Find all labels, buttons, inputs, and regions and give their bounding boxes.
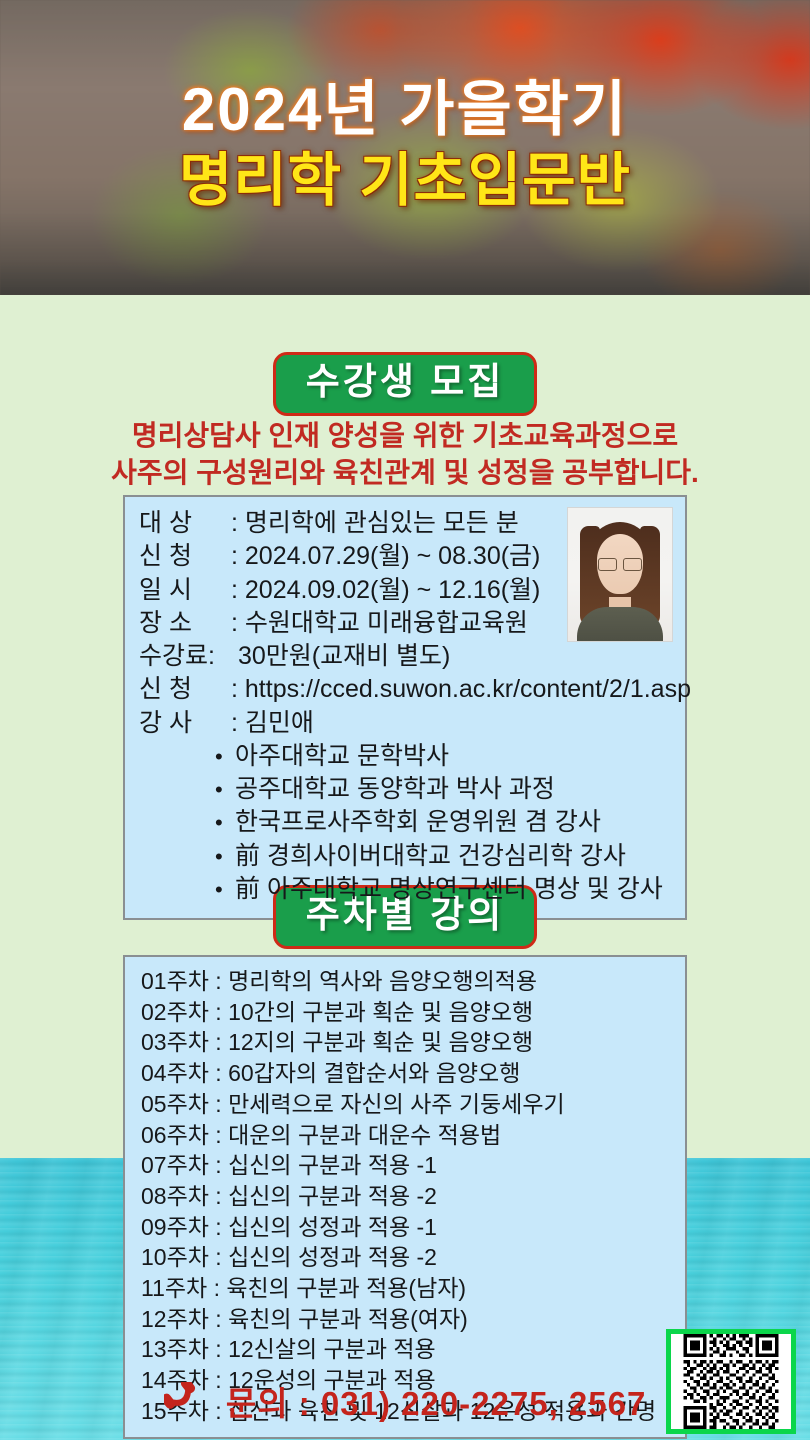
credential-item: 前 경희사이버대학교 건강심리학 강사 [215, 840, 673, 873]
info-row: 일 시: 2024.09.02(월) ~ 12.16(월) [139, 574, 673, 607]
info-row: 신 청: 2024.07.29(월) ~ 08.30(금) [139, 540, 673, 573]
info-value: 김민애 [245, 709, 314, 737]
contact-text: 문의 : 031) 220-2275, 2567 [226, 1385, 646, 1422]
info-value: 명리학에 관심있는 모든 분 [245, 509, 519, 537]
info-row-apply-url[interactable]: 신 청: https://cced.suwon.ac.kr/content/2/… [139, 673, 673, 706]
weekly-item: 05주차 : 만세력으로 자신의 사주 기둥세우기 [141, 1089, 675, 1120]
title-line-1: 2024년 가을학기 [0, 78, 810, 141]
banner-title-group: 2024년 가을학기 명리학 기초입문반 [0, 78, 810, 212]
credential-item: 아주대학교 문학박사 [215, 740, 673, 773]
credential-item: 한국프로사주학회 운영위원 겸 강사 [215, 806, 673, 839]
info-value: 2024.09.02(월) ~ 12.16(월) [245, 576, 540, 604]
weekly-item: 03주차 : 12지의 구분과 획순 및 음양오행 [141, 1027, 675, 1058]
info-label: 대 상 [139, 507, 231, 540]
weekly-item: 01주차 : 명리학의 역사와 음양오행의적용 [141, 966, 675, 997]
info-row: 대 상: 명리학에 관심있는 모든 분 [139, 507, 673, 540]
info-value: 수원대학교 미래융합교육원 [245, 609, 528, 637]
info-label: 강 사 [139, 707, 231, 740]
weekly-item: 04주차 : 60갑자의 결합순서와 음양오행 [141, 1058, 675, 1089]
info-value: 30만원(교재비 별도) [238, 642, 450, 670]
info-label: 신 청 [139, 673, 231, 706]
info-row: 강 사: 김민애 [139, 707, 673, 740]
weekly-item: 02주차 : 10간의 구분과 획순 및 음양오행 [141, 997, 675, 1028]
course-info-box: 대 상: 명리학에 관심있는 모든 분 신 청: 2024.07.29(월) ~… [123, 495, 687, 920]
banner-header: 2024년 가을학기 명리학 기초입문반 [0, 0, 810, 295]
weekly-item: 13주차 : 12신살의 구분과 적용 [141, 1334, 675, 1365]
recruit-heading-badge: 수강생 모집 [273, 352, 537, 416]
phone-receiver-svg [164, 1382, 204, 1420]
recruit-subtitle: 명리상담사 인재 양성을 위한 기초교육과정으로 사주의 구성원리와 육친관계 … [0, 418, 810, 492]
weekly-schedule-box: 01주차 : 명리학의 역사와 음양오행의적용 02주차 : 10간의 구분과 … [123, 955, 687, 1439]
info-label: 수강료: [139, 640, 231, 673]
phone-receiver-icon [164, 1382, 204, 1428]
weekly-item: 11주차 : 육친의 구분과 적용(남자) [141, 1273, 675, 1304]
info-row: 장 소: 수원대학교 미래융합교육원 [139, 607, 673, 640]
recruit-subtitle-line-1: 명리상담사 인재 양성을 위한 기초교육과정으로 [0, 418, 810, 455]
recruit-subtitle-line-2: 사주의 구성원리와 육친관계 및 성정을 공부합니다. [0, 455, 810, 492]
weekly-item: 08주차 : 십신의 구분과 적용 -2 [141, 1181, 675, 1212]
info-value: 2024.07.29(월) ~ 08.30(금) [245, 542, 540, 570]
info-row: 수강료: 30만원(교재비 별도) [139, 640, 673, 673]
poster: 2024년 가을학기 명리학 기초입문반 수강생 모집 명리상담사 인재 양성을… [0, 0, 810, 1440]
weekly-item: 09주차 : 십신의 성정과 적용 -1 [141, 1212, 675, 1243]
course-info-rows: 대 상: 명리학에 관심있는 모든 분 신 청: 2024.07.29(월) ~… [139, 507, 673, 740]
recruit-heading-wrap: 수강생 모집 [0, 352, 810, 416]
instructor-credentials: 아주대학교 문학박사 공주대학교 동양학과 박사 과정 한국프로사주학회 운영위… [139, 740, 673, 906]
weekly-item: 10주차 : 십신의 성정과 적용 -2 [141, 1242, 675, 1273]
weekly-item: 06주차 : 대운의 구분과 대운수 적용법 [141, 1120, 675, 1151]
apply-url-link[interactable]: https://cced.suwon.ac.kr/content/2/1.asp [245, 675, 691, 703]
credential-item: 공주대학교 동양학과 박사 과정 [215, 773, 673, 806]
weekly-item: 07주차 : 십신의 구분과 적용 -1 [141, 1150, 675, 1181]
contact-footer: 문의 : 031) 220-2275, 2567 [0, 1377, 810, 1428]
weekly-item: 12주차 : 육친의 구분과 적용(여자) [141, 1304, 675, 1335]
info-label: 장 소 [139, 607, 231, 640]
title-line-2: 명리학 기초입문반 [0, 151, 810, 212]
info-label: 신 청 [139, 540, 231, 573]
info-label: 일 시 [139, 574, 231, 607]
credential-item: 前 아주대학교 명상연구센터 명상 및 강사 [215, 873, 673, 906]
